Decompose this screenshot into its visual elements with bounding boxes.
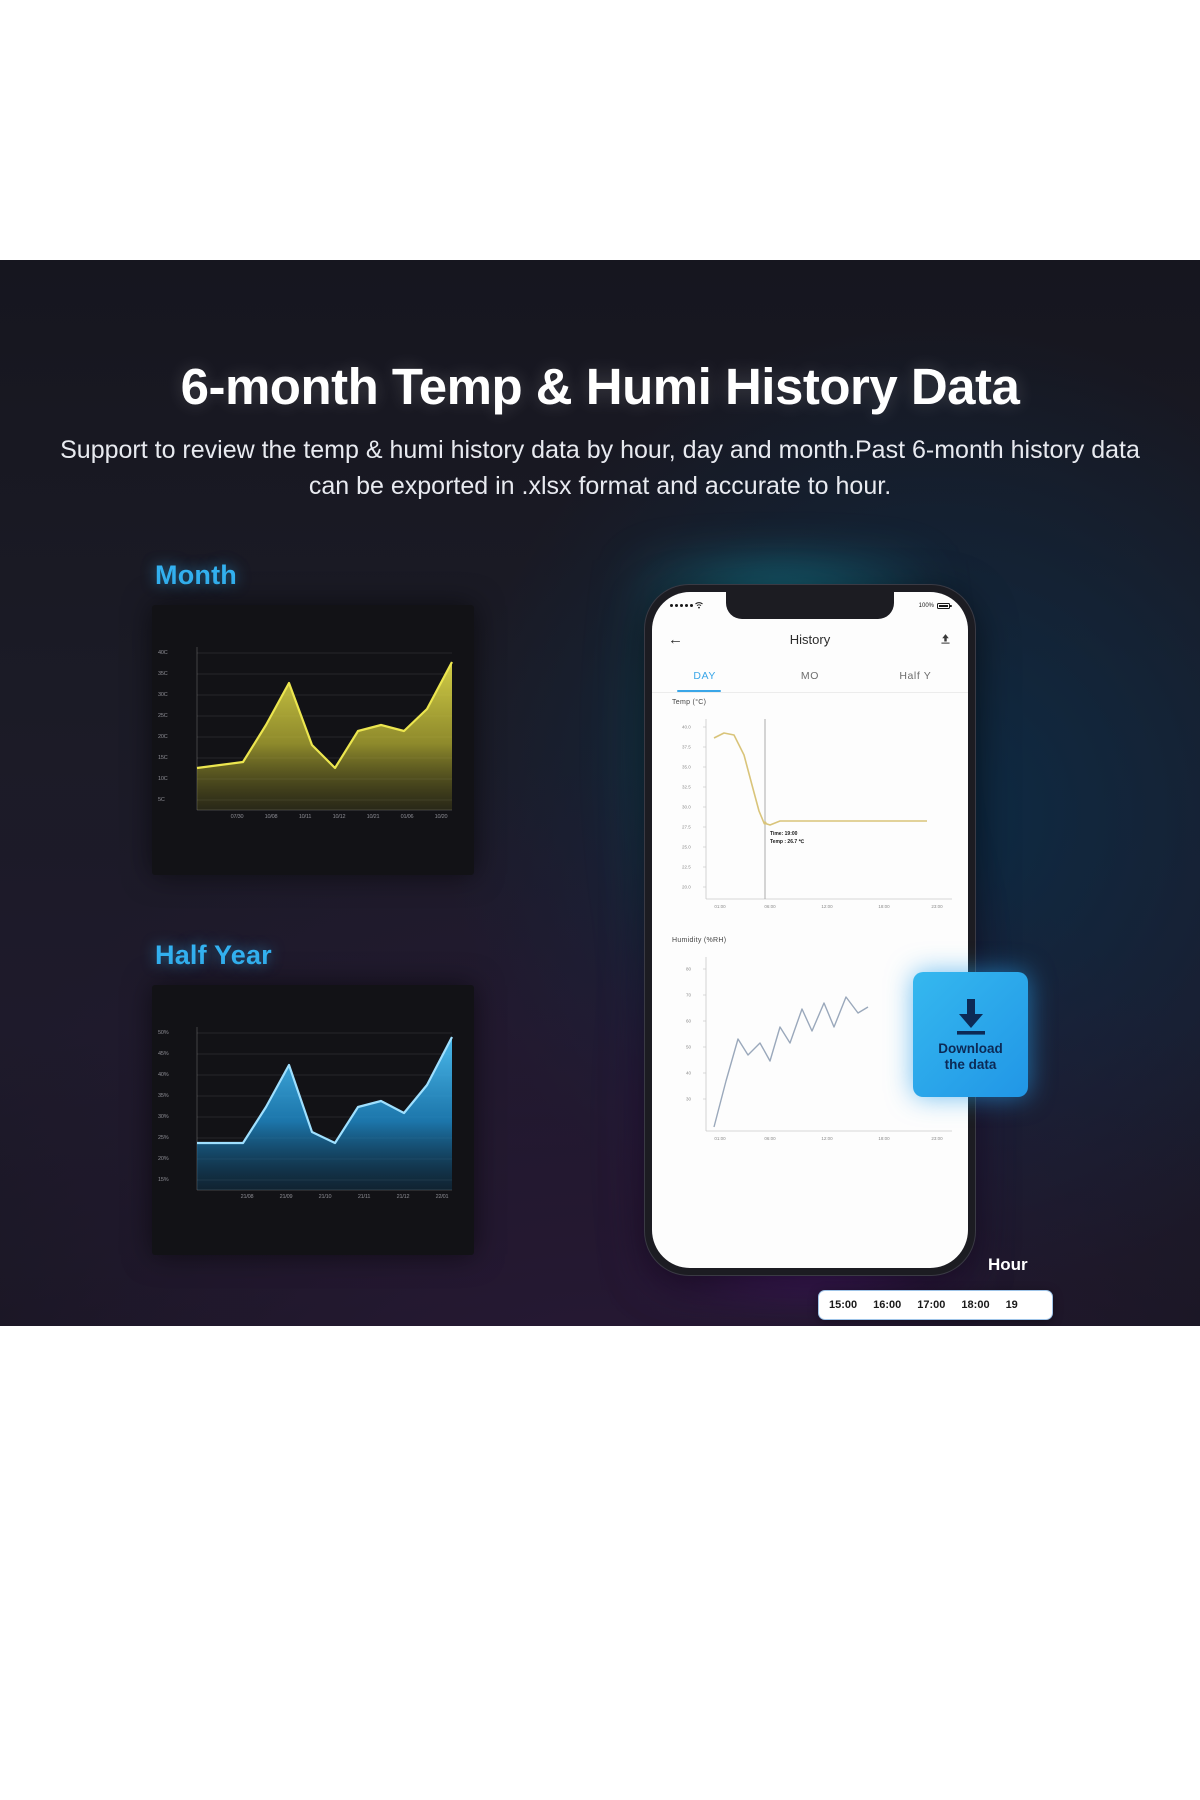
month-ytick: 20C — [158, 734, 168, 740]
half-year-section-label: Half Year — [155, 940, 272, 971]
humidity-xtick: 12:00 — [821, 1136, 832, 1141]
month-ytick: 30C — [158, 692, 168, 698]
temp-ytick: 30.0 — [682, 805, 691, 810]
temp-xtick: 23:00 — [931, 904, 942, 909]
wifi-icon — [695, 602, 703, 609]
hour-callout-label: Hour — [988, 1255, 1028, 1275]
half-year-ytick: 20% — [158, 1156, 168, 1162]
half-year-xtick: 21/12 — [397, 1194, 410, 1200]
temp-ytick: 27.5 — [682, 825, 691, 830]
half-year-ytick: 15% — [158, 1177, 168, 1183]
back-button[interactable]: ← — [668, 632, 683, 647]
page-subtitle: Support to review the temp & humi histor… — [60, 432, 1140, 505]
temp-ytick: 22.5 — [682, 865, 691, 870]
humidity-xtick: 18:00 — [878, 1136, 889, 1141]
download-line-2: the data — [945, 1057, 997, 1072]
month-xtick: 10/21 — [367, 814, 380, 820]
month-xtick: 10/08 — [265, 814, 278, 820]
temp-ytick: 25.0 — [682, 845, 691, 850]
month-ytick: 5C — [158, 797, 165, 803]
status-bar: 100% — [652, 592, 968, 619]
tab-day[interactable]: DAY — [652, 670, 757, 682]
month-xtick: 10/20 — [435, 814, 448, 820]
humidity-ytick: 80 — [686, 967, 691, 972]
download-callout-text: Download the data — [938, 1041, 1003, 1072]
half-year-ytick: 30% — [158, 1114, 168, 1120]
tooltip-time: Time: 19:00 — [770, 831, 804, 839]
month-ytick: 25C — [158, 713, 168, 719]
half-year-xtick: 21/11 — [358, 1194, 370, 1200]
page-title: 6-month Temp & Humi History Data — [60, 360, 1140, 414]
phone-screen: 100% ← History DAY MO Half Y — [652, 592, 968, 1268]
download-line-1: Download — [938, 1041, 1003, 1056]
month-ytick: 10C — [158, 776, 168, 782]
month-ytick: 35C — [158, 671, 168, 677]
temp-xtick: 18:00 — [878, 904, 889, 909]
tab-active-indicator — [677, 690, 721, 693]
half-year-chart-card: 50% 45% 40% 35% 30% 25% 20% 15% 21/08 21… — [152, 985, 474, 1255]
battery-status: 100% — [919, 603, 950, 609]
half-year-ytick: 45% — [158, 1051, 168, 1057]
month-xtick: 07/30 — [231, 814, 244, 820]
month-ytick: 15C — [158, 755, 168, 761]
humidity-ytick: 40 — [686, 1071, 691, 1076]
tab-half-year[interactable]: Half Y — [863, 670, 968, 682]
hour-value[interactable]: 15:00 — [829, 1299, 857, 1311]
humidity-xtick: 01:00 — [714, 1136, 725, 1141]
half-year-ytick: 25% — [158, 1135, 168, 1141]
temp-ytick: 40.0 — [682, 725, 691, 730]
app-bar: ← History — [652, 619, 968, 659]
humidity-xtick: 06:00 — [764, 1136, 775, 1141]
hour-value[interactable]: 19 — [1006, 1299, 1018, 1311]
humidity-ytick: 50 — [686, 1045, 691, 1050]
tab-month[interactable]: MO — [757, 670, 862, 682]
temp-ytick: 20.0 — [682, 885, 691, 890]
phone-mockup: 100% ← History DAY MO Half Y — [645, 585, 975, 1275]
battery-icon — [937, 603, 950, 609]
month-xtick: 01/06 — [401, 814, 414, 820]
half-year-xtick: 22/01 — [436, 1194, 449, 1200]
month-xtick: 10/11 — [299, 814, 311, 820]
download-icon — [953, 997, 989, 1037]
hour-value[interactable]: 17:00 — [917, 1299, 945, 1311]
temp-tooltip: Time: 19:00 Temp : 26.7 ℃ — [770, 831, 804, 846]
temp-chart-svg — [652, 693, 968, 931]
half-year-xtick: 21/09 — [280, 1194, 293, 1200]
month-section-label: Month — [155, 560, 237, 591]
download-callout[interactable]: Download the data — [913, 972, 1028, 1097]
tooltip-temp: Temp : 26.7 ℃ — [770, 839, 804, 847]
headline-block: 6-month Temp & Humi History Data Support… — [0, 360, 1200, 504]
humidity-ytick: 70 — [686, 993, 691, 998]
hour-value[interactable]: 16:00 — [873, 1299, 901, 1311]
temp-chart: Temp (°C) — [652, 693, 968, 931]
humidity-ytick: 60 — [686, 1019, 691, 1024]
promo-banner: 6-month Temp & Humi History Data Support… — [0, 260, 1200, 1326]
app-title: History — [652, 632, 968, 647]
humidity-ytick: 30 — [686, 1097, 691, 1102]
hour-value[interactable]: 18:00 — [961, 1299, 989, 1311]
half-year-ytick: 50% — [158, 1030, 168, 1036]
month-ytick: 40C — [158, 650, 168, 656]
half-year-xtick: 21/10 — [319, 1194, 332, 1200]
temp-xtick: 12:00 — [821, 904, 832, 909]
temp-ytick: 35.0 — [682, 765, 691, 770]
temp-xtick: 01:00 — [714, 904, 725, 909]
half-year-xtick: 21/08 — [241, 1194, 254, 1200]
temp-xtick: 06:00 — [764, 904, 775, 909]
signal-icon — [670, 602, 703, 609]
temp-ytick: 32.5 — [682, 785, 691, 790]
temp-ytick: 37.5 — [682, 745, 691, 750]
month-chart-card: 40C 35C 30C 25C 20C 15C 10C 5C 07/30 10/… — [152, 605, 474, 875]
history-tabs[interactable]: DAY MO Half Y — [652, 659, 968, 693]
temp-chart-title: Temp (°C) — [672, 699, 706, 706]
half-year-chart-svg — [152, 985, 474, 1255]
half-year-ytick: 35% — [158, 1093, 168, 1099]
month-xtick: 10/12 — [333, 814, 346, 820]
battery-percent: 100% — [919, 603, 934, 609]
export-icon[interactable] — [939, 633, 952, 646]
page-root: 6-month Temp & Humi History Data Support… — [0, 0, 1200, 1800]
humidity-xtick: 23:00 — [931, 1136, 942, 1141]
hour-callout-strip[interactable]: 15:00 16:00 17:00 18:00 19 — [818, 1290, 1053, 1320]
half-year-ytick: 40% — [158, 1072, 168, 1078]
humidity-chart-title: Humidity (%RH) — [672, 937, 726, 944]
month-chart-svg — [152, 605, 474, 875]
